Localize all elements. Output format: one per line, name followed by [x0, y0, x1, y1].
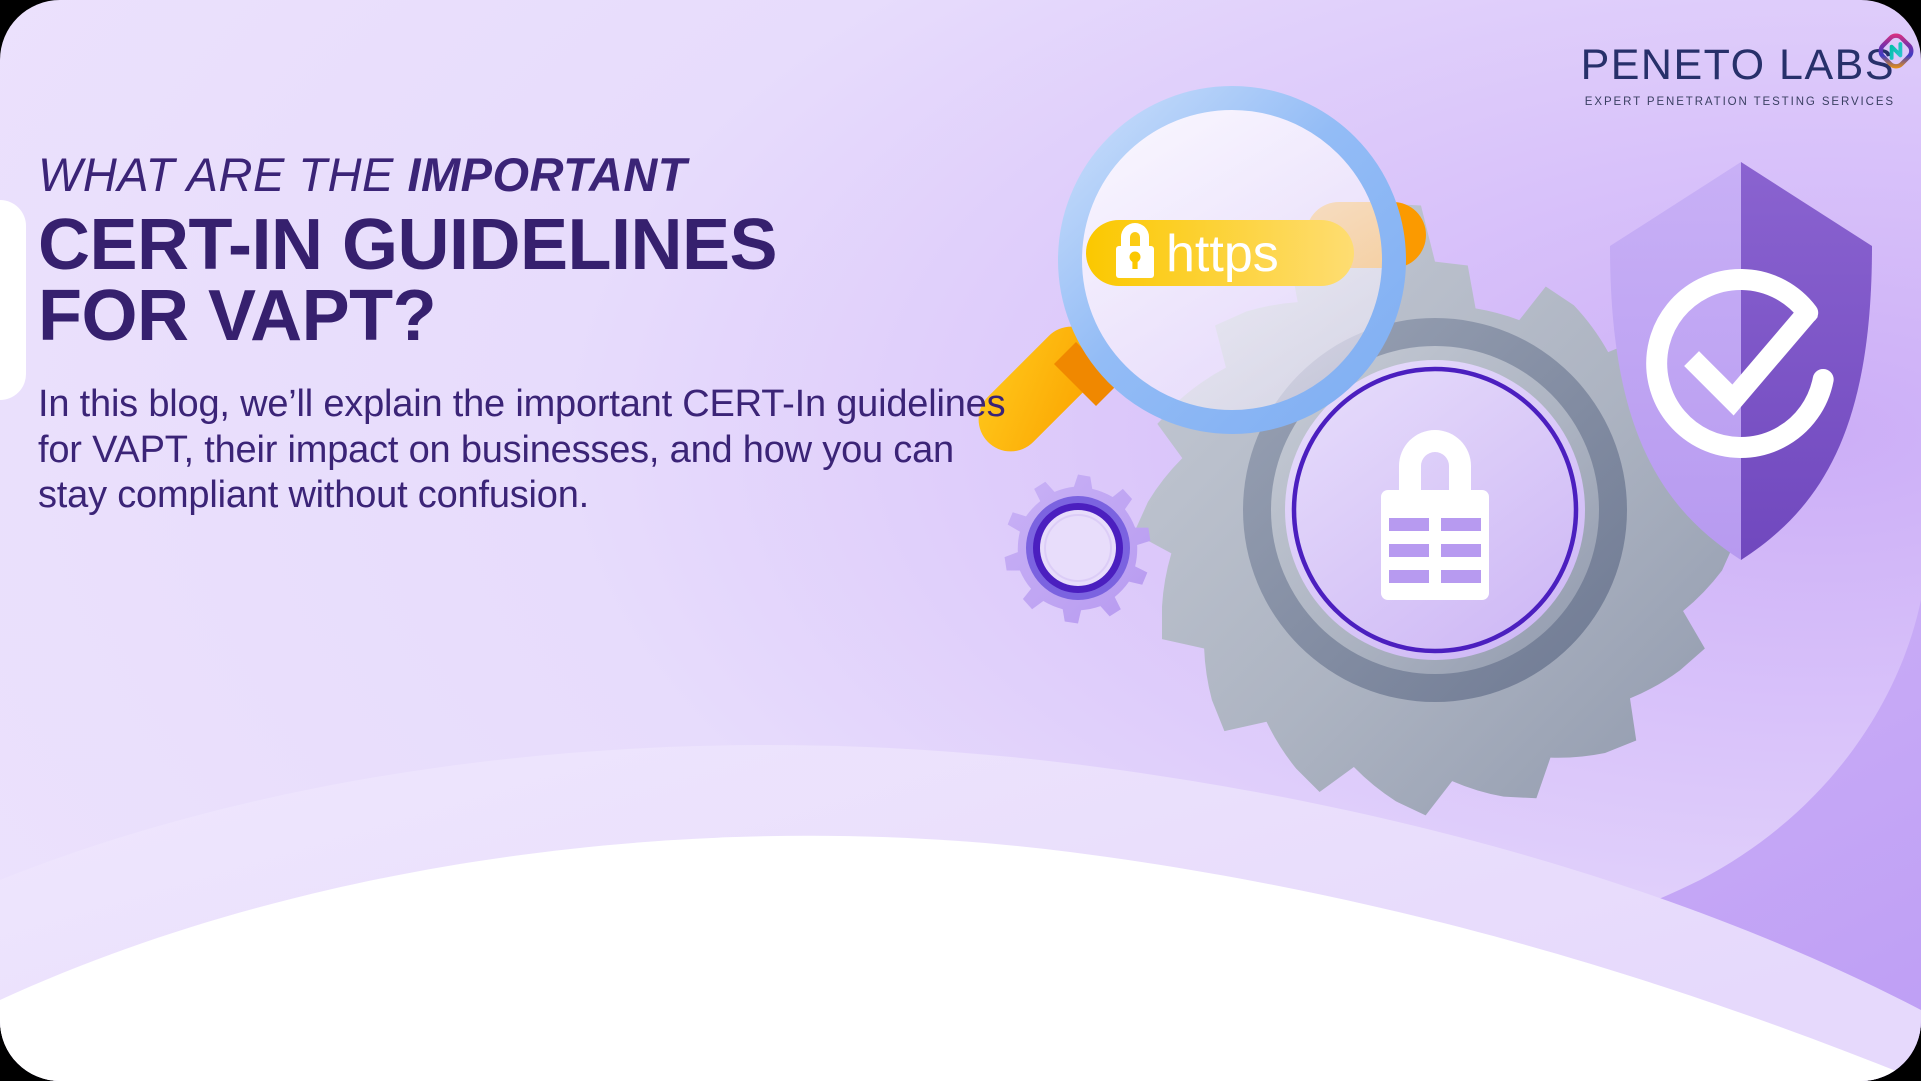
address-bar-label: https	[1166, 225, 1279, 283]
headline-line-2: FOR VAPT?	[38, 281, 1058, 352]
peneto-diamond-bolt-icon	[1875, 30, 1917, 72]
headline-line-1: CERT-IN GUIDELINES	[38, 210, 1058, 281]
eyebrow-plain: WHAT ARE THE	[38, 148, 407, 201]
copy-block: WHAT ARE THE IMPORTANT CERT-IN GUIDELINE…	[38, 150, 1058, 518]
brand-logo[interactable]: PENETO LABS EXPERT PENETRATION TESTING S…	[1581, 44, 1895, 108]
left-edge-notch	[0, 200, 26, 400]
eyebrow-text: WHAT ARE THE IMPORTANT	[38, 150, 1058, 200]
eyebrow-strong: IMPORTANT	[407, 148, 687, 201]
address-bar: https	[1086, 220, 1354, 286]
body-text: In this blog, we’ll explain the importan…	[38, 382, 1018, 518]
page-title: CERT-IN GUIDELINES FOR VAPT?	[38, 210, 1058, 353]
wave-white-base	[0, 836, 1921, 1081]
promo-banner: https PENETO LABS EXPERT PENETRATION TES…	[0, 0, 1921, 1081]
logo-tagline: EXPERT PENETRATION TESTING SERVICES	[1581, 96, 1895, 108]
logo-wordmark: PENETO LABS	[1581, 44, 1895, 87]
security-illustration: https	[1010, 110, 1921, 830]
